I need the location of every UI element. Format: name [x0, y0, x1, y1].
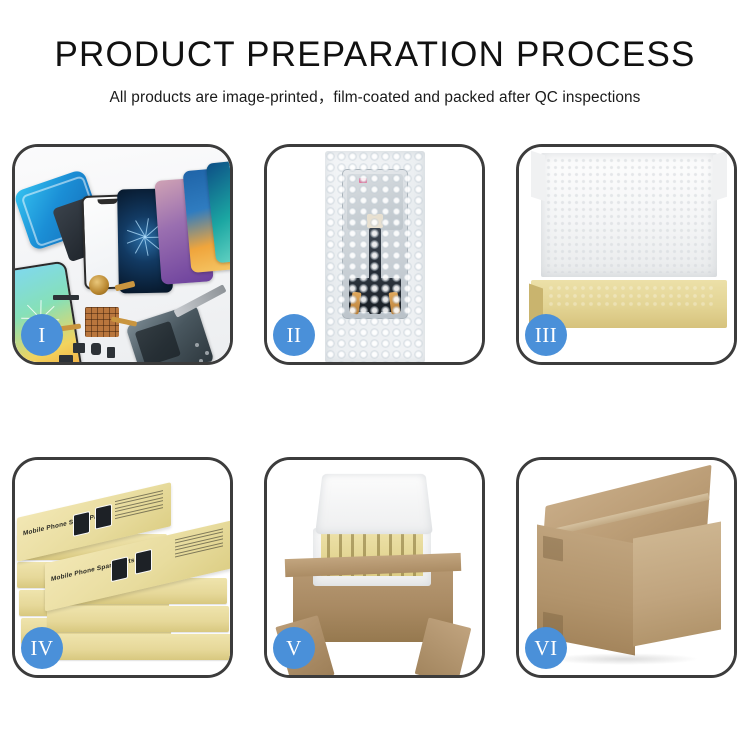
process-step-1[interactable]: I	[12, 144, 233, 365]
stacked-box-icon	[47, 606, 229, 632]
process-step-6[interactable]: VI	[516, 457, 737, 678]
process-step-2[interactable]: II	[264, 144, 485, 365]
step-badge-1: I	[21, 314, 63, 356]
bubble-texture-icon	[325, 151, 425, 362]
screw-icon	[199, 359, 203, 362]
carton-side-face-icon	[633, 521, 721, 646]
chip-icon	[53, 295, 79, 300]
page-subtitle: All products are image-printed，film-coat…	[0, 85, 750, 107]
chip-icon	[107, 347, 115, 358]
drop-shadow	[549, 653, 699, 665]
screw-icon	[195, 343, 199, 347]
phone-print-icon	[73, 511, 90, 537]
page-title: PRODUCT PREPARATION PROCESS	[0, 36, 750, 74]
copper-coil-icon	[89, 275, 109, 295]
step-badge-4: IV	[21, 627, 63, 669]
spec-lines-icon	[175, 528, 223, 559]
process-step-3[interactable]: III	[516, 144, 737, 365]
product-preparation-infographic: PRODUCT PREPARATION PROCESS All products…	[0, 0, 750, 750]
step-badge-3: III	[525, 314, 567, 356]
chip-icon	[73, 343, 85, 353]
phone-print-icon	[111, 556, 128, 582]
step-badge-2: II	[273, 314, 315, 356]
screw-icon	[205, 351, 209, 355]
carton-flap-right-icon	[415, 618, 472, 675]
stacked-box-icon	[49, 634, 230, 660]
phone-print-icon	[95, 504, 112, 530]
chip-icon	[91, 343, 101, 355]
phone-print-icon	[135, 549, 152, 575]
chip-icon	[59, 355, 73, 362]
white-foam-lid-icon	[541, 153, 717, 277]
spec-lines-icon	[115, 490, 163, 521]
bubble-wrapped-contents-icon	[547, 284, 713, 310]
step-badge-5: V	[273, 627, 315, 669]
process-step-4[interactable]: Mobile Phone Spare Parts Mobile Phone Sp…	[12, 457, 233, 678]
header: PRODUCT PREPARATION PROCESS All products…	[0, 0, 750, 107]
foam-texture-icon	[545, 157, 713, 273]
bubble-wrap-bag-icon	[325, 151, 425, 362]
carton-seam-tab-icon	[543, 536, 563, 562]
process-step-5[interactable]: V	[264, 457, 485, 678]
foam-lid-open-icon	[315, 474, 433, 534]
step-badge-6: VI	[525, 627, 567, 669]
process-step-grid: I II	[12, 144, 738, 689]
